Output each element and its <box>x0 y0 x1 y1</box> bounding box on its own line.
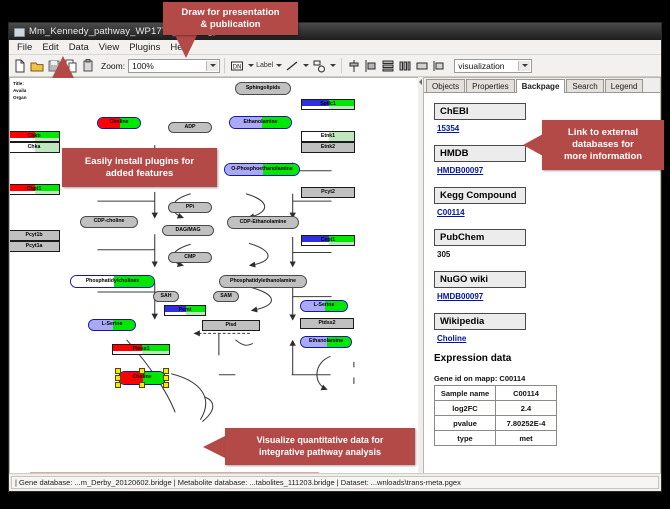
pathvisio-window: Mm_Kennedy_pathway_WP1771_45176.gpml Fil… <box>8 22 662 492</box>
line-dropdown-icon[interactable] <box>301 59 310 73</box>
screenshot-root: Mm_Kennedy_pathway_WP1771_45176.gpml Fil… <box>0 0 670 509</box>
table-row: Sample name C00114 <box>435 386 557 401</box>
table-row: type met <box>435 431 557 446</box>
node-label: L-Serine <box>102 322 123 327</box>
callout-links-arrow <box>523 134 543 156</box>
tab-backpage[interactable]: Backpage <box>516 79 566 93</box>
node-label: Ethanolamine <box>309 339 343 344</box>
db-header-nugowiki: NuGO wiki <box>434 271 526 288</box>
selection-handle[interactable] <box>115 375 121 381</box>
selection-handle[interactable] <box>115 368 121 374</box>
application-window-icon <box>13 26 24 37</box>
zoom-value: 100% <box>132 61 154 71</box>
metabolite-node[interactable]: PPi <box>168 202 212 213</box>
datanode-tool-icon[interactable]: DN <box>229 58 245 74</box>
gene-node[interactable]: Chkb <box>9 131 60 142</box>
side-panel-tabstrip: Objects Properties Backpage Search Legen… <box>424 78 660 93</box>
gene-node[interactable]: Pcyt1b <box>9 230 60 241</box>
callout-plugins-line1: Easily install plugins for <box>85 156 194 168</box>
statusbar: | Gene database: ...m_Derby_20120602.bri… <box>9 473 661 491</box>
metabolite-node[interactable]: Choline <box>97 117 141 129</box>
node-label: Etnk2 <box>321 145 335 150</box>
visualization-combobox[interactable]: visualization <box>454 59 532 73</box>
node-label: Ptdss2 <box>318 321 335 326</box>
table-row: log2FC 2.4 <box>435 401 557 416</box>
callout-plugins-arrow <box>52 56 74 78</box>
node-label: PPi <box>186 205 194 210</box>
gene-node[interactable]: Pcyt2 <box>301 187 355 198</box>
menu-view[interactable]: View <box>94 42 124 53</box>
expr-key-log2fc: log2FC <box>435 401 496 416</box>
callout-visualize-line1: Visualize quantitative data for <box>257 435 384 446</box>
metabolite-node[interactable]: CDP-Ethanolamine <box>227 216 299 229</box>
line-tool-icon[interactable] <box>284 58 300 74</box>
db-link-kegg[interactable]: C00114 <box>437 208 660 217</box>
expr-key-pvalue: pvalue <box>435 416 496 431</box>
metabolite-node[interactable]: L-Serine <box>300 300 348 312</box>
callout-visualize-arrow <box>203 436 225 458</box>
metabolite-node[interactable]: CDP-choline <box>80 216 138 228</box>
node-label: Pisd <box>226 323 237 328</box>
node-label: Cept1 <box>321 238 335 243</box>
metabolite-node[interactable]: Ethanolamine <box>300 336 352 348</box>
gene-node[interactable]: Pcyt1a <box>9 241 60 252</box>
expr-val-type: met <box>496 431 557 446</box>
node-label: Chka <box>28 145 41 150</box>
callout-plugins-line2: added features <box>85 168 194 180</box>
toolbar-separator-2 <box>341 58 342 73</box>
node-label: SAH <box>161 294 172 299</box>
node-label: Sphingolipids <box>246 86 280 91</box>
metabolite-node[interactable]: O-Phosphoethanolamine <box>224 163 300 176</box>
callout-visualize: Visualize quantitative data for integrat… <box>225 428 415 465</box>
callout-draw-line1: Draw for presentation <box>181 7 279 19</box>
metabolite-node[interactable]: SAH <box>153 291 179 302</box>
expr-key-type: type <box>435 431 496 446</box>
db-header-pubchem: PubChem <box>434 229 526 246</box>
callout-visualize-line2: integrative pathway analysis <box>257 447 384 458</box>
chevron-down-icon <box>206 61 218 71</box>
expression-data-heading: Expression data <box>434 353 660 364</box>
label-tool-label[interactable]: Label <box>256 62 273 69</box>
gene-node[interactable]: Chka <box>9 142 60 153</box>
open-folder-icon[interactable] <box>29 58 45 74</box>
node-label: L-Serine <box>314 303 335 308</box>
expr-key-sample-name: Sample name <box>435 386 496 401</box>
node-label: Phosphatidylethanolamine <box>230 279 296 284</box>
db-header-chebi: ChEBI <box>434 103 526 120</box>
db-header-wikipedia: Wikipedia <box>434 313 526 330</box>
callout-draw: Draw for presentation & publication <box>163 2 298 35</box>
metabolite-node[interactable]: Phosphatidylcholines <box>70 275 155 288</box>
db-value-pubchem: 305 <box>437 250 660 259</box>
toolbar: Zoom: 100% DN Label <box>9 55 661 77</box>
metabolite-node[interactable]: Phosphatidylethanolamine <box>219 275 307 288</box>
stack-icon[interactable] <box>380 58 396 74</box>
gene-node[interactable]: Chpt1 <box>9 184 60 195</box>
callout-draw-arrow <box>175 35 197 58</box>
gene-node[interactable]: Etnk1 <box>301 131 355 142</box>
menu-plugins[interactable]: Plugins <box>124 42 165 53</box>
node-label: Choline <box>132 375 151 380</box>
tab-objects[interactable]: Objects <box>426 79 465 92</box>
metabolite-node[interactable]: SAM <box>213 291 239 302</box>
gene-node[interactable]: Ptdss2 <box>300 318 354 329</box>
zoom-combobox[interactable]: 100% <box>128 59 220 73</box>
node-label: O-Phosphoethanolamine <box>231 167 292 172</box>
group-icon[interactable] <box>414 58 430 74</box>
tab-properties[interactable]: Properties <box>466 79 514 92</box>
node-label: Etnk1 <box>321 134 335 139</box>
table-row: pvalue 7.80252E-4 <box>435 416 557 431</box>
layer-icon[interactable] <box>431 58 447 74</box>
metabolite-node[interactable]: Sphingolipids <box>235 82 291 95</box>
gene-node[interactable]: Etnk2 <box>301 142 355 153</box>
db-link-nugowiki[interactable]: HMDB00097 <box>437 292 660 301</box>
tab-search[interactable]: Search <box>566 79 603 92</box>
gene-node[interactable]: Pemt <box>164 305 206 316</box>
distribute-icon[interactable] <box>397 58 413 74</box>
metabolite-node[interactable]: Ethanolamine <box>229 116 292 129</box>
gene-node[interactable]: Sptlc1 <box>301 99 355 110</box>
pathway-canvas[interactable]: Title: Availa Organ <box>9 77 418 474</box>
node-label: Ethanolamine <box>243 120 277 125</box>
selection-handle[interactable] <box>163 382 169 388</box>
selection-handle[interactable] <box>139 382 145 388</box>
selection-handle[interactable] <box>163 368 169 374</box>
node-label: DAG/MAG <box>175 228 200 233</box>
node-label: Chpt1 <box>27 187 42 192</box>
selection-handle[interactable] <box>163 375 169 381</box>
node-label: Pcyt1a <box>26 244 43 249</box>
menubar: File Edit Data View Plugins Help <box>9 40 661 55</box>
db-link-wikipedia[interactable]: Choline <box>437 334 660 343</box>
expr-val-pvalue: 7.80252E-4 <box>496 416 557 431</box>
node-label: ADP <box>185 125 196 130</box>
node-label: Phosphatidylcholines <box>86 279 140 284</box>
metabolite-node[interactable]: DAG/MAG <box>162 225 214 236</box>
node-label: Sptlc1 <box>320 102 336 107</box>
new-file-icon[interactable] <box>12 58 28 74</box>
shape-tool-icon[interactable] <box>311 58 327 74</box>
db-header-hmdb: HMDB <box>434 145 526 162</box>
window-titlebar: Mm_Kennedy_pathway_WP1771_45176.gpml <box>9 23 661 40</box>
gene-node[interactable]: Ptdss1 <box>112 344 170 355</box>
expr-val-log2fc: 2.4 <box>496 401 557 416</box>
datanode-dropdown-icon[interactable] <box>246 59 255 73</box>
align-center-icon[interactable] <box>346 58 362 74</box>
shape-dropdown-icon[interactable] <box>328 59 337 73</box>
node-label: CDP-choline <box>94 219 125 224</box>
callout-links-line2: databases for <box>564 139 642 151</box>
expression-data-table: Sample name C00114 log2FC 2.4 pvalue 7.8… <box>434 385 557 446</box>
metabolite-node[interactable]: L-Serine <box>88 319 136 331</box>
menu-data[interactable]: Data <box>64 42 94 53</box>
callout-links-line1: Link to external <box>564 127 642 139</box>
db-header-kegg: Kegg Compound <box>434 187 526 204</box>
zoom-label: Zoom: <box>101 61 125 71</box>
gene-node[interactable]: Cept1 <box>301 235 355 246</box>
tab-legend[interactable]: Legend <box>605 79 644 92</box>
menu-file[interactable]: File <box>12 42 37 53</box>
visualization-value: visualization <box>458 61 504 71</box>
chevron-down-icon-2 <box>518 61 530 71</box>
statusbar-text: | Gene database: ...m_Derby_20120602.bri… <box>11 476 659 489</box>
align-left-icon[interactable] <box>363 58 379 74</box>
menu-edit[interactable]: Edit <box>37 42 63 53</box>
node-label: CMP <box>184 255 196 260</box>
toolbar-separator <box>224 58 225 73</box>
expr-val-sample-name: C00114 <box>496 386 557 401</box>
callout-draw-line2: & publication <box>181 19 279 31</box>
node-label: Pemt <box>179 308 192 313</box>
node-label: Choline <box>109 120 128 125</box>
label-dropdown-icon[interactable] <box>274 59 283 73</box>
paste-icon[interactable] <box>80 58 96 74</box>
node-label: Pcyt1b <box>25 233 42 238</box>
svg-text:DN: DN <box>233 63 242 70</box>
callout-plugins: Easily install plugins for added feature… <box>62 148 217 187</box>
selection-handle[interactable] <box>139 368 145 374</box>
node-label: CDP-Ethanolamine <box>240 220 287 225</box>
node-label: Ptdss1 <box>132 347 149 352</box>
callout-links-line3: more information <box>564 151 642 163</box>
metabolite-node[interactable]: CMP <box>168 252 212 263</box>
gene-node[interactable]: Pisd <box>202 320 260 331</box>
metabolite-node[interactable]: ADP <box>168 122 212 133</box>
gene-id-on-mapp: Gene id on mapp: C00114 <box>434 374 660 383</box>
node-label: Chkb <box>28 134 41 139</box>
selection-handle[interactable] <box>115 382 121 388</box>
callout-links: Link to external databases for more info… <box>542 120 664 170</box>
node-label: SAM <box>220 294 232 299</box>
node-label: Pcyt2 <box>321 190 335 195</box>
